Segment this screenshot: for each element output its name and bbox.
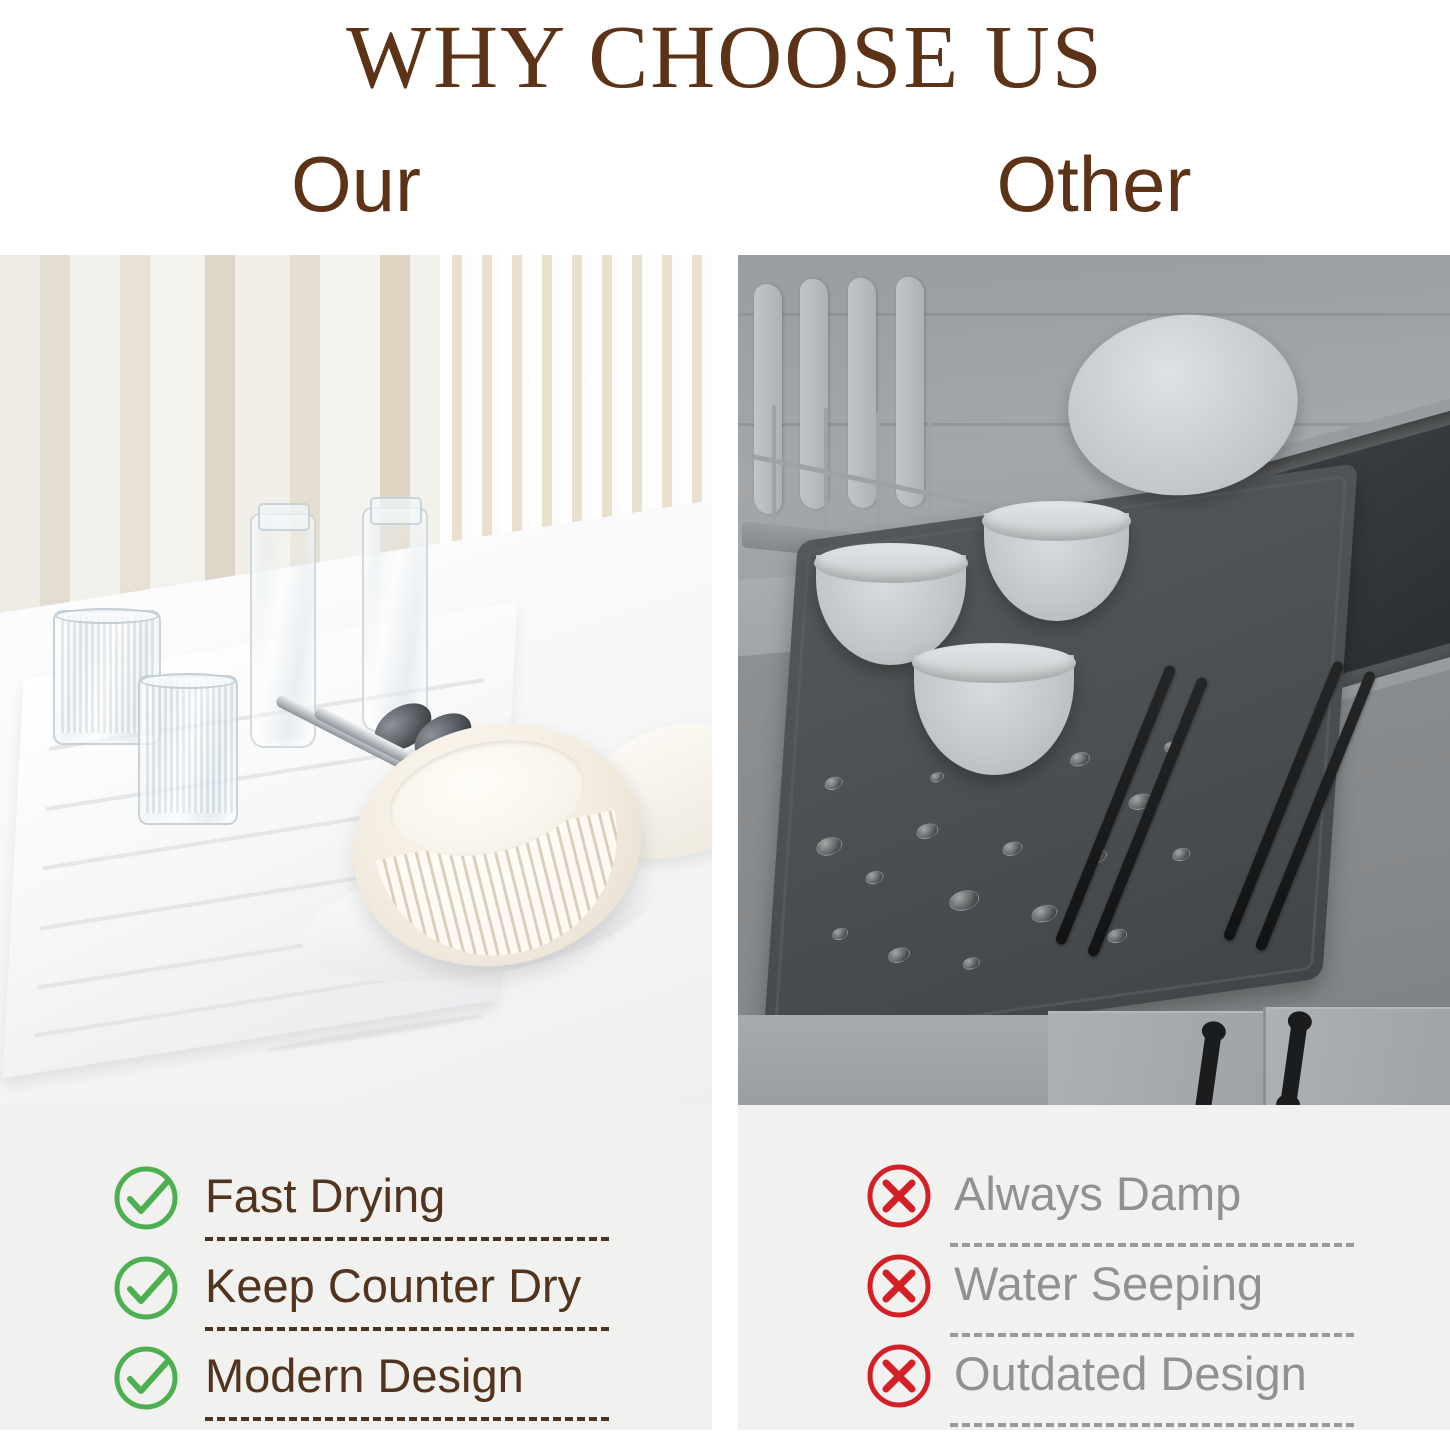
glass-bottle-right-neck [370, 497, 422, 525]
feature-list-other: Always Damp Water Seeping [738, 1105, 1450, 1430]
feature-item: Water Seeping [738, 1253, 1450, 1343]
feature-divider [205, 1237, 609, 1241]
cabinet-door-left [1048, 1011, 1263, 1105]
feature-item: Modern Design [0, 1345, 712, 1435]
feature-divider [950, 1333, 1354, 1337]
comparison-footer: Fast Drying Keep Counter Dry Modern Desi… [0, 1105, 1450, 1450]
feature-item: Outdated Design [738, 1343, 1450, 1433]
cabinet-door-gap [1263, 1007, 1266, 1105]
product-photo-other [738, 255, 1450, 1105]
check-circle-icon [113, 1165, 179, 1231]
check-circle-icon [113, 1345, 179, 1411]
feature-label: Water Seeping [954, 1249, 1263, 1319]
column-title-our: Our [0, 140, 712, 228]
feature-label: Modern Design [205, 1341, 524, 1411]
glass-bottle-right [362, 507, 428, 732]
x-circle-icon [866, 1163, 932, 1229]
feature-label: Keep Counter Dry [205, 1251, 581, 1321]
feature-divider [205, 1417, 609, 1421]
page-title: WHY CHOOSE US [0, 8, 1450, 108]
x-circle-icon [866, 1253, 932, 1319]
header: WHY CHOOSE US Our Other [0, 0, 1450, 255]
product-photo-ours [0, 255, 712, 1105]
feature-divider [205, 1327, 609, 1331]
feature-divider [950, 1423, 1354, 1427]
feature-label: Outdated Design [954, 1339, 1307, 1409]
feature-divider [950, 1243, 1354, 1247]
feature-label: Always Damp [954, 1159, 1241, 1229]
feature-label: Fast Drying [205, 1161, 445, 1231]
glass-bottle-left-neck [258, 503, 310, 531]
check-circle-icon [113, 1255, 179, 1321]
column-title-other: Other [738, 140, 1450, 228]
feature-item: Fast Drying [0, 1165, 712, 1255]
comparison-photos [0, 255, 1450, 1105]
feature-item: Keep Counter Dry [0, 1255, 712, 1345]
feature-list-ours: Fast Drying Keep Counter Dry Modern Desi… [0, 1105, 712, 1430]
feature-item: Always Damp [738, 1163, 1450, 1253]
x-circle-icon [866, 1343, 932, 1409]
fluted-tumbler-front [138, 675, 238, 825]
